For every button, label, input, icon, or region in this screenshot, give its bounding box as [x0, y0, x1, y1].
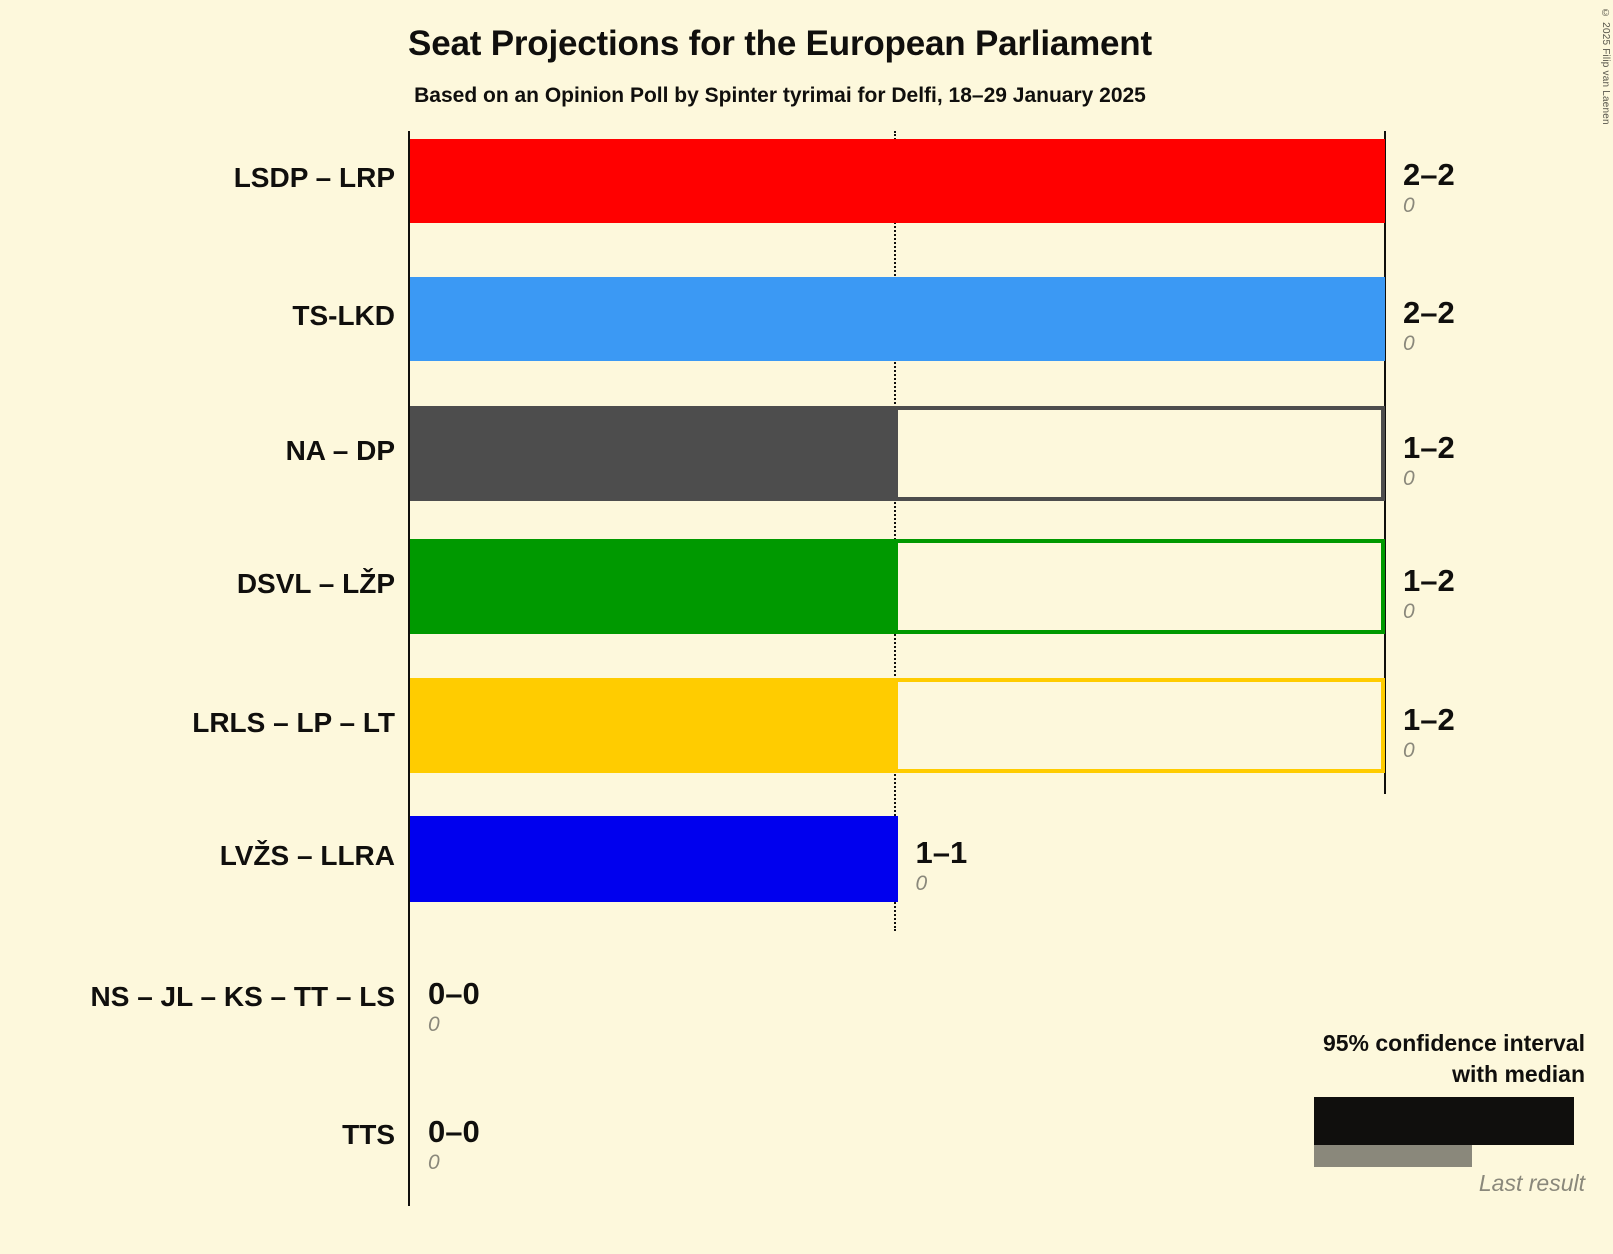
- chart-canvas: Seat Projections for the European Parlia…: [0, 0, 1613, 1254]
- legend-diagonal-segment: [1524, 1097, 1574, 1145]
- last-result-value: 0: [1403, 467, 1415, 491]
- median-gridline: [894, 131, 896, 931]
- bar-row-label: NA – DP: [286, 435, 395, 467]
- last-result-value: 0: [916, 872, 928, 896]
- legend-last-result-label: Last result: [1479, 1170, 1585, 1197]
- seat-range-bar: [410, 406, 1385, 501]
- seat-range-value: 1–1: [916, 835, 968, 871]
- seat-range-bar: [410, 678, 1385, 773]
- last-result-value: 0: [428, 1151, 440, 1175]
- seat-range-bar: [410, 816, 898, 902]
- bar-median-segment: [410, 539, 898, 634]
- seat-range-bar: [410, 139, 1385, 223]
- last-result-value: 0: [1403, 332, 1415, 356]
- last-result-value: 0: [1403, 600, 1415, 624]
- seat-range-bar: [410, 539, 1385, 634]
- seat-range-value: 2–2: [1403, 157, 1455, 193]
- bar-confidence-segment: [898, 539, 1386, 634]
- plot-area: LSDP – LRP2–20TS-LKD2–20NA – DP1–20DSVL …: [0, 0, 1613, 1254]
- seat-range-value: 1–2: [1403, 702, 1455, 738]
- bar-median-segment: [410, 678, 898, 773]
- bar-row-label: LVŽS – LLRA: [220, 840, 395, 872]
- bar-row-label: DSVL – LŽP: [237, 568, 395, 600]
- seat-range-value: 0–0: [428, 976, 480, 1012]
- seat-range-value: 1–2: [1403, 430, 1455, 466]
- seat-range-value: 1–2: [1403, 563, 1455, 599]
- legend-line-2: with median: [1452, 1061, 1585, 1088]
- bar-row-label: LSDP – LRP: [234, 162, 395, 194]
- seat-range-value: 2–2: [1403, 295, 1455, 331]
- bar-confidence-segment: [898, 406, 1386, 501]
- legend-sample-bar: [1314, 1097, 1574, 1145]
- bar-confidence-segment: [898, 678, 1386, 773]
- legend-crosshatch-segment: [1436, 1097, 1520, 1145]
- seat-range-value: 0–0: [428, 1114, 480, 1150]
- bar-row-label: LRLS – LP – LT: [192, 707, 395, 739]
- legend-line-1: 95% confidence interval: [1323, 1030, 1585, 1057]
- last-result-value: 0: [1403, 739, 1415, 763]
- bar-median-segment: [410, 277, 1385, 361]
- bar-row-label: NS – JL – KS – TT – LS: [91, 981, 395, 1013]
- bar-row-label: TTS: [342, 1119, 395, 1151]
- seat-range-bar: [410, 277, 1385, 361]
- bar-median-segment: [410, 406, 898, 501]
- last-result-value: 0: [1403, 194, 1415, 218]
- legend-last-result-bar: [1314, 1145, 1472, 1167]
- bar-median-segment: [410, 816, 898, 902]
- bar-median-segment: [410, 139, 1385, 223]
- last-result-value: 0: [428, 1013, 440, 1037]
- bar-row-label: TS-LKD: [292, 300, 395, 332]
